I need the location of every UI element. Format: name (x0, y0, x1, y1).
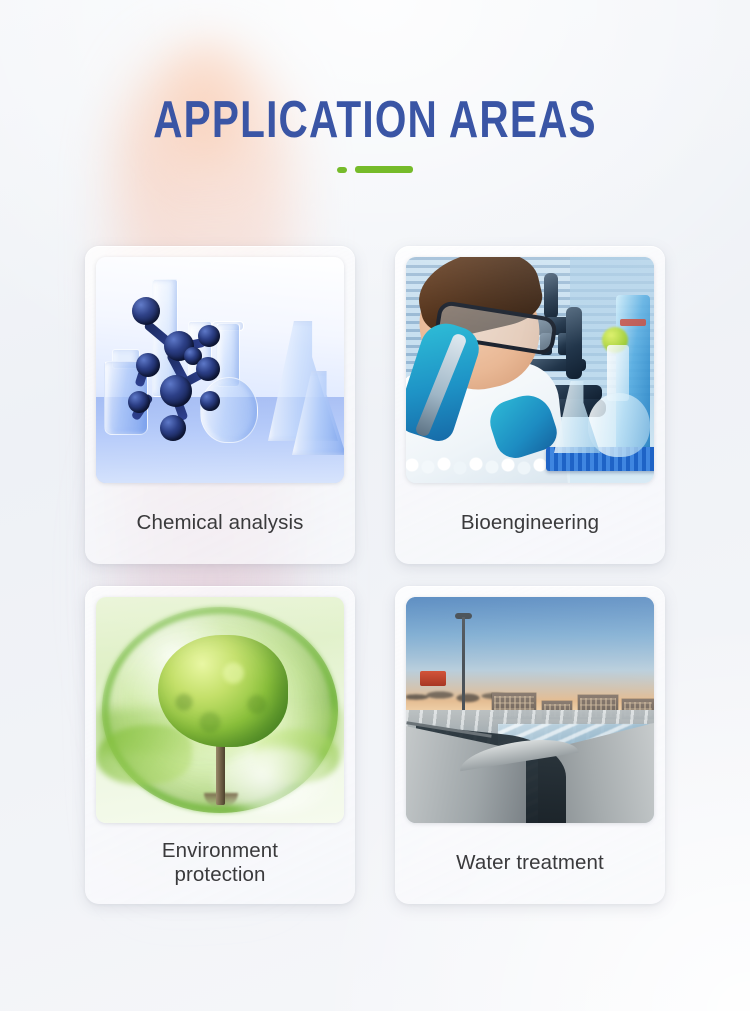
application-card-water-treatment[interactable]: Water treatment (395, 586, 665, 904)
wastewater-plant-illustration (406, 597, 654, 823)
card-label-bioengineering: Bioengineering (406, 483, 654, 563)
title-accent-divider (0, 166, 750, 173)
cylinder-label (620, 319, 646, 326)
droplet-shine (216, 747, 336, 813)
sample-beads (406, 451, 556, 479)
accent-dot-icon (337, 167, 347, 173)
molecule-model-icon (114, 283, 244, 459)
application-card-bioengineering[interactable]: Bioengineering (395, 246, 665, 564)
card-label-environment-protection: Environment protection (96, 823, 344, 903)
card-image-bioengineering (406, 257, 654, 483)
card-image-water-treatment (406, 597, 654, 823)
application-card-chemical-analysis[interactable]: Chemical analysis (85, 246, 355, 564)
card-image-chemical-analysis (96, 257, 344, 483)
page-title: APPLICATION AREAS (83, 92, 668, 148)
application-card-environment-protection[interactable]: Environment protection (85, 586, 355, 904)
red-sign-icon (420, 671, 446, 686)
green-droplet-tree-illustration (96, 597, 344, 823)
tree-foliage-icon (158, 635, 288, 747)
page-root: APPLICATION AREAS (0, 0, 750, 1011)
page-header: APPLICATION AREAS (0, 92, 750, 173)
application-areas-grid: Chemical analysis (85, 246, 665, 904)
foreground-leaf-left (96, 725, 192, 785)
chemistry-glassware-illustration (96, 257, 344, 483)
laboratory-scientist-illustration (406, 257, 654, 483)
card-label-chemical-analysis: Chemical analysis (96, 483, 344, 563)
card-label-water-treatment: Water treatment (406, 823, 654, 903)
card-image-environment-protection (96, 597, 344, 823)
accent-bar-icon (355, 166, 413, 173)
